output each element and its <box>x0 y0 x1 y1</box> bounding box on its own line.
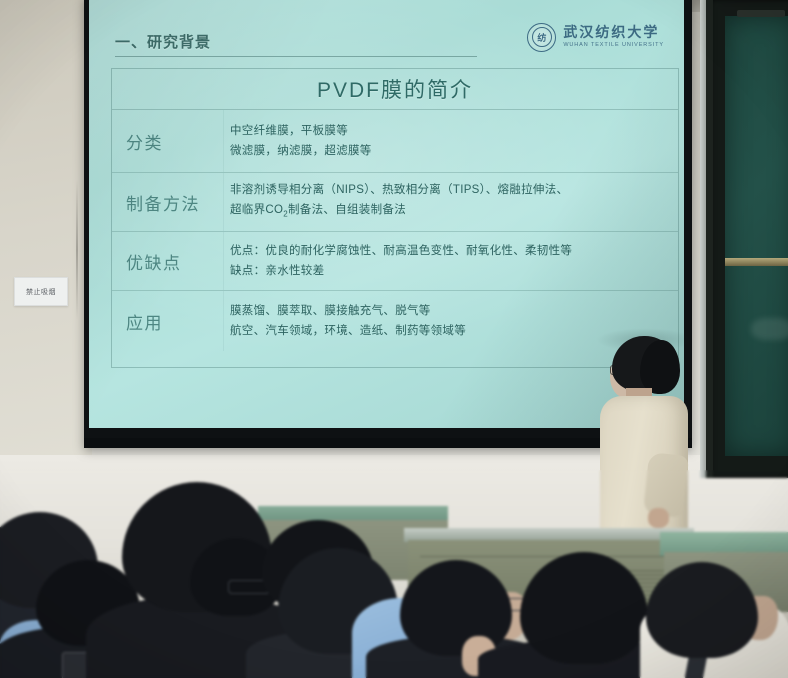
row-line: 超临界CO2制备法、自组装制备法 <box>230 204 670 220</box>
row-content: 中空纤维膜，平板膜等 微滤膜，纳滤膜，超滤膜等 <box>224 110 678 172</box>
presenter-hand <box>648 508 669 528</box>
table-row: 分类 中空纤维膜，平板膜等 微滤膜，纳滤膜，超滤膜等 <box>112 110 678 173</box>
wall-seam <box>76 180 78 320</box>
university-name-block: 武汉纺织大学 WUHAN TEXTILE UNIVERSITY <box>563 26 664 49</box>
table-row: 制备方法 非溶剂诱导相分离（NIPS）、热致相分离（TIPS）、熔融拉伸法、 超… <box>112 173 678 232</box>
table-row: 应用 膜蒸馏、膜萃取、膜接触充气、脱气等 航空、汽车领域，环境、造纸、制药等领域… <box>112 291 678 351</box>
desk-seam <box>420 556 680 557</box>
presenter-arm <box>643 452 689 518</box>
row-label: 制备方法 <box>112 173 224 231</box>
row-line: 中空纤维膜，平板膜等 <box>230 125 670 138</box>
row-line: 优点：优良的耐化学腐蚀性、耐高温色变性、耐氧化性、柔韧性等 <box>230 245 670 258</box>
row-label: 应用 <box>112 291 224 351</box>
chalk-smudge <box>751 318 788 340</box>
table-title: PVDF膜的简介 <box>112 69 678 110</box>
row-line: 膜蒸馏、膜萃取、膜接触充气、脱气等 <box>230 305 670 318</box>
row-content: 非溶剂诱导相分离（NIPS）、热致相分离（TIPS）、熔融拉伸法、 超临界CO2… <box>224 173 678 231</box>
header-divider <box>115 56 477 57</box>
table-row: 优缺点 优点：优良的耐化学腐蚀性、耐高温色变性、耐氧化性、柔韧性等 缺点：亲水性… <box>112 232 678 291</box>
university-seal-icon: 纺 <box>527 23 556 52</box>
chalkboard-surface <box>725 16 788 456</box>
row-line: 非溶剂诱导相分离（NIPS）、热致相分离（TIPS）、熔融拉伸法、 <box>230 184 670 197</box>
left-wall <box>0 0 92 512</box>
row-label: 分类 <box>112 110 224 172</box>
chalkboard <box>706 0 788 478</box>
content-table: PVDF膜的简介 分类 中空纤维膜，平板膜等 微滤膜，纳滤膜，超滤膜等 制备方法… <box>111 68 679 368</box>
university-logo: 纺 武汉纺织大学 WUHAN TEXTILE UNIVERSITY <box>527 22 664 52</box>
row-line: 缺点：亲水性较差 <box>230 265 670 278</box>
chalkboard-clip <box>737 10 785 17</box>
lecture-hall-photo: 禁止吸烟 一、研究背景 纺 武汉纺织大学 WUHAN TEXTILE UNIVE… <box>0 0 788 678</box>
row-line: 微滤膜，纳滤膜，超滤膜等 <box>230 145 670 158</box>
presentation-slide: 一、研究背景 纺 武汉纺织大学 WUHAN TEXTILE UNIVERSITY… <box>89 0 684 428</box>
university-name-cn: 武汉纺织大学 <box>563 26 664 40</box>
row-content: 优点：优良的耐化学腐蚀性、耐高温色变性、耐氧化性、柔韧性等 缺点：亲水性较差 <box>224 232 678 290</box>
university-name-en: WUHAN TEXTILE UNIVERSITY <box>563 43 664 49</box>
row-label: 优缺点 <box>112 232 224 290</box>
chalk-tray <box>725 258 788 266</box>
no-smoking-sign: 禁止吸烟 <box>14 277 68 306</box>
seal-glyph: 纺 <box>528 24 555 51</box>
presenter-hair-back <box>640 340 680 394</box>
presenter <box>596 336 694 551</box>
